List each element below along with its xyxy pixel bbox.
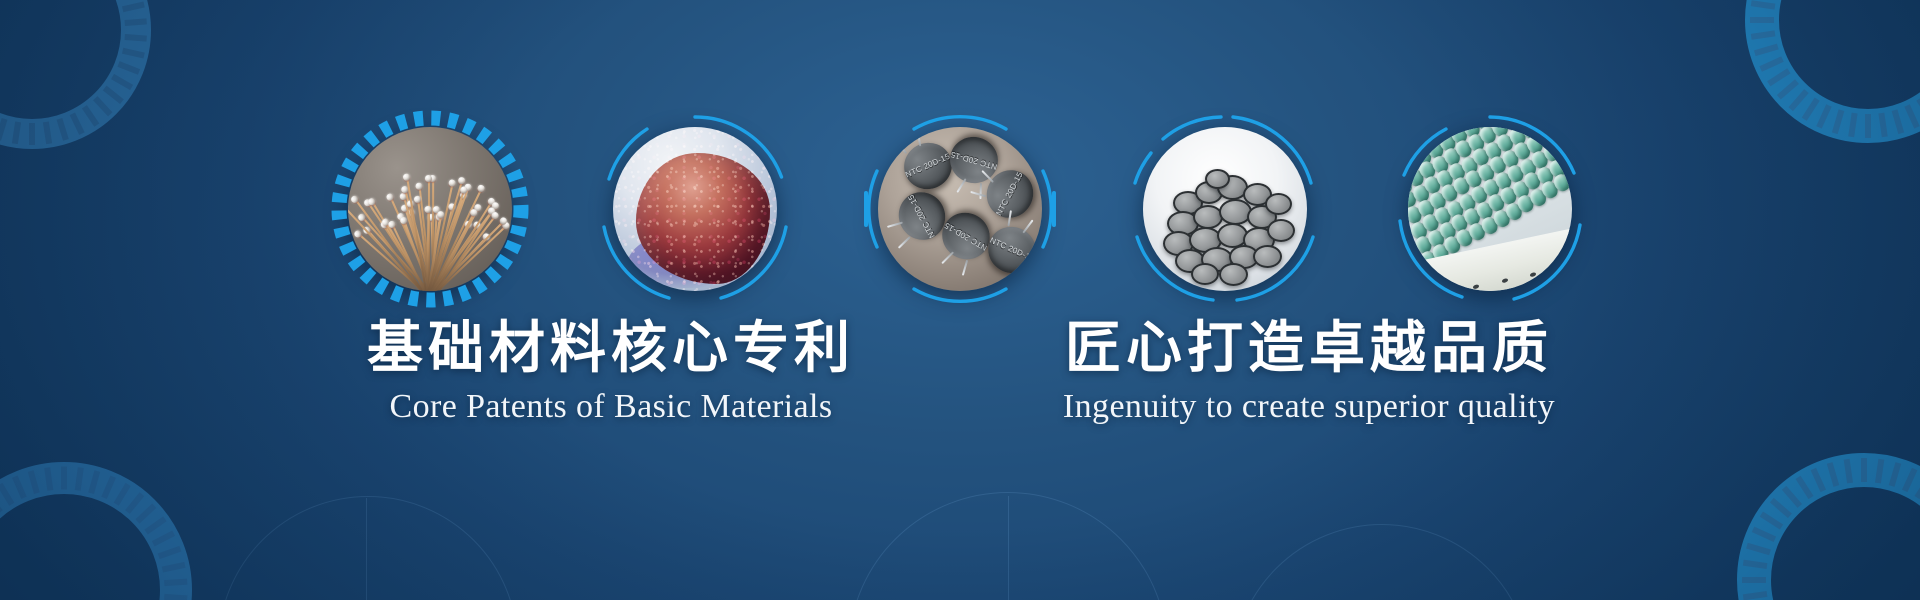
faint-arc bbox=[848, 492, 1168, 600]
circle-ntc-thermistors: NTC 20D-15 NTC 20D-15 NTC 20D-15 bbox=[860, 109, 1060, 309]
headline-row: 基础材料核心专利 Core Patents of Basic Materials… bbox=[0, 316, 1920, 429]
circle-ceramic-discs bbox=[1125, 109, 1325, 309]
circle-resistors bbox=[1390, 109, 1590, 309]
headline-right-en: Ingenuity to create superior quality bbox=[999, 386, 1619, 429]
ring-arc-gapped bbox=[595, 109, 795, 309]
product-circle-row: NTC 20D-15 NTC 20D-15 NTC 20D-15 bbox=[0, 104, 1920, 314]
faint-arc-line bbox=[366, 498, 367, 600]
faint-arc bbox=[1232, 524, 1532, 600]
ring-arc-gapped-ticks bbox=[860, 109, 1060, 309]
headline-right: 匠心打造卓越品质 Ingenuity to create superior qu… bbox=[999, 316, 1619, 429]
ring-arc-gapped bbox=[1390, 109, 1590, 309]
headline-right-cn: 匠心打造卓越品质 bbox=[999, 316, 1619, 382]
ring-dashed-segmented bbox=[330, 109, 530, 309]
promo-banner: NTC 20D-15 NTC 20D-15 NTC 20D-15 bbox=[0, 0, 1920, 600]
headline-left-en: Core Patents of Basic Materials bbox=[301, 386, 921, 429]
ring-arc-gapped bbox=[1125, 109, 1325, 309]
circle-powder bbox=[595, 109, 795, 309]
gear-spokes-icon bbox=[1704, 420, 1920, 600]
faint-arc bbox=[218, 496, 518, 600]
circle-lead-wires bbox=[330, 109, 530, 309]
gear-spokes-icon bbox=[0, 430, 224, 600]
headline-left: 基础材料核心专利 Core Patents of Basic Materials bbox=[301, 316, 921, 429]
faint-arc-line bbox=[1008, 496, 1009, 600]
headline-left-cn: 基础材料核心专利 bbox=[301, 316, 921, 382]
